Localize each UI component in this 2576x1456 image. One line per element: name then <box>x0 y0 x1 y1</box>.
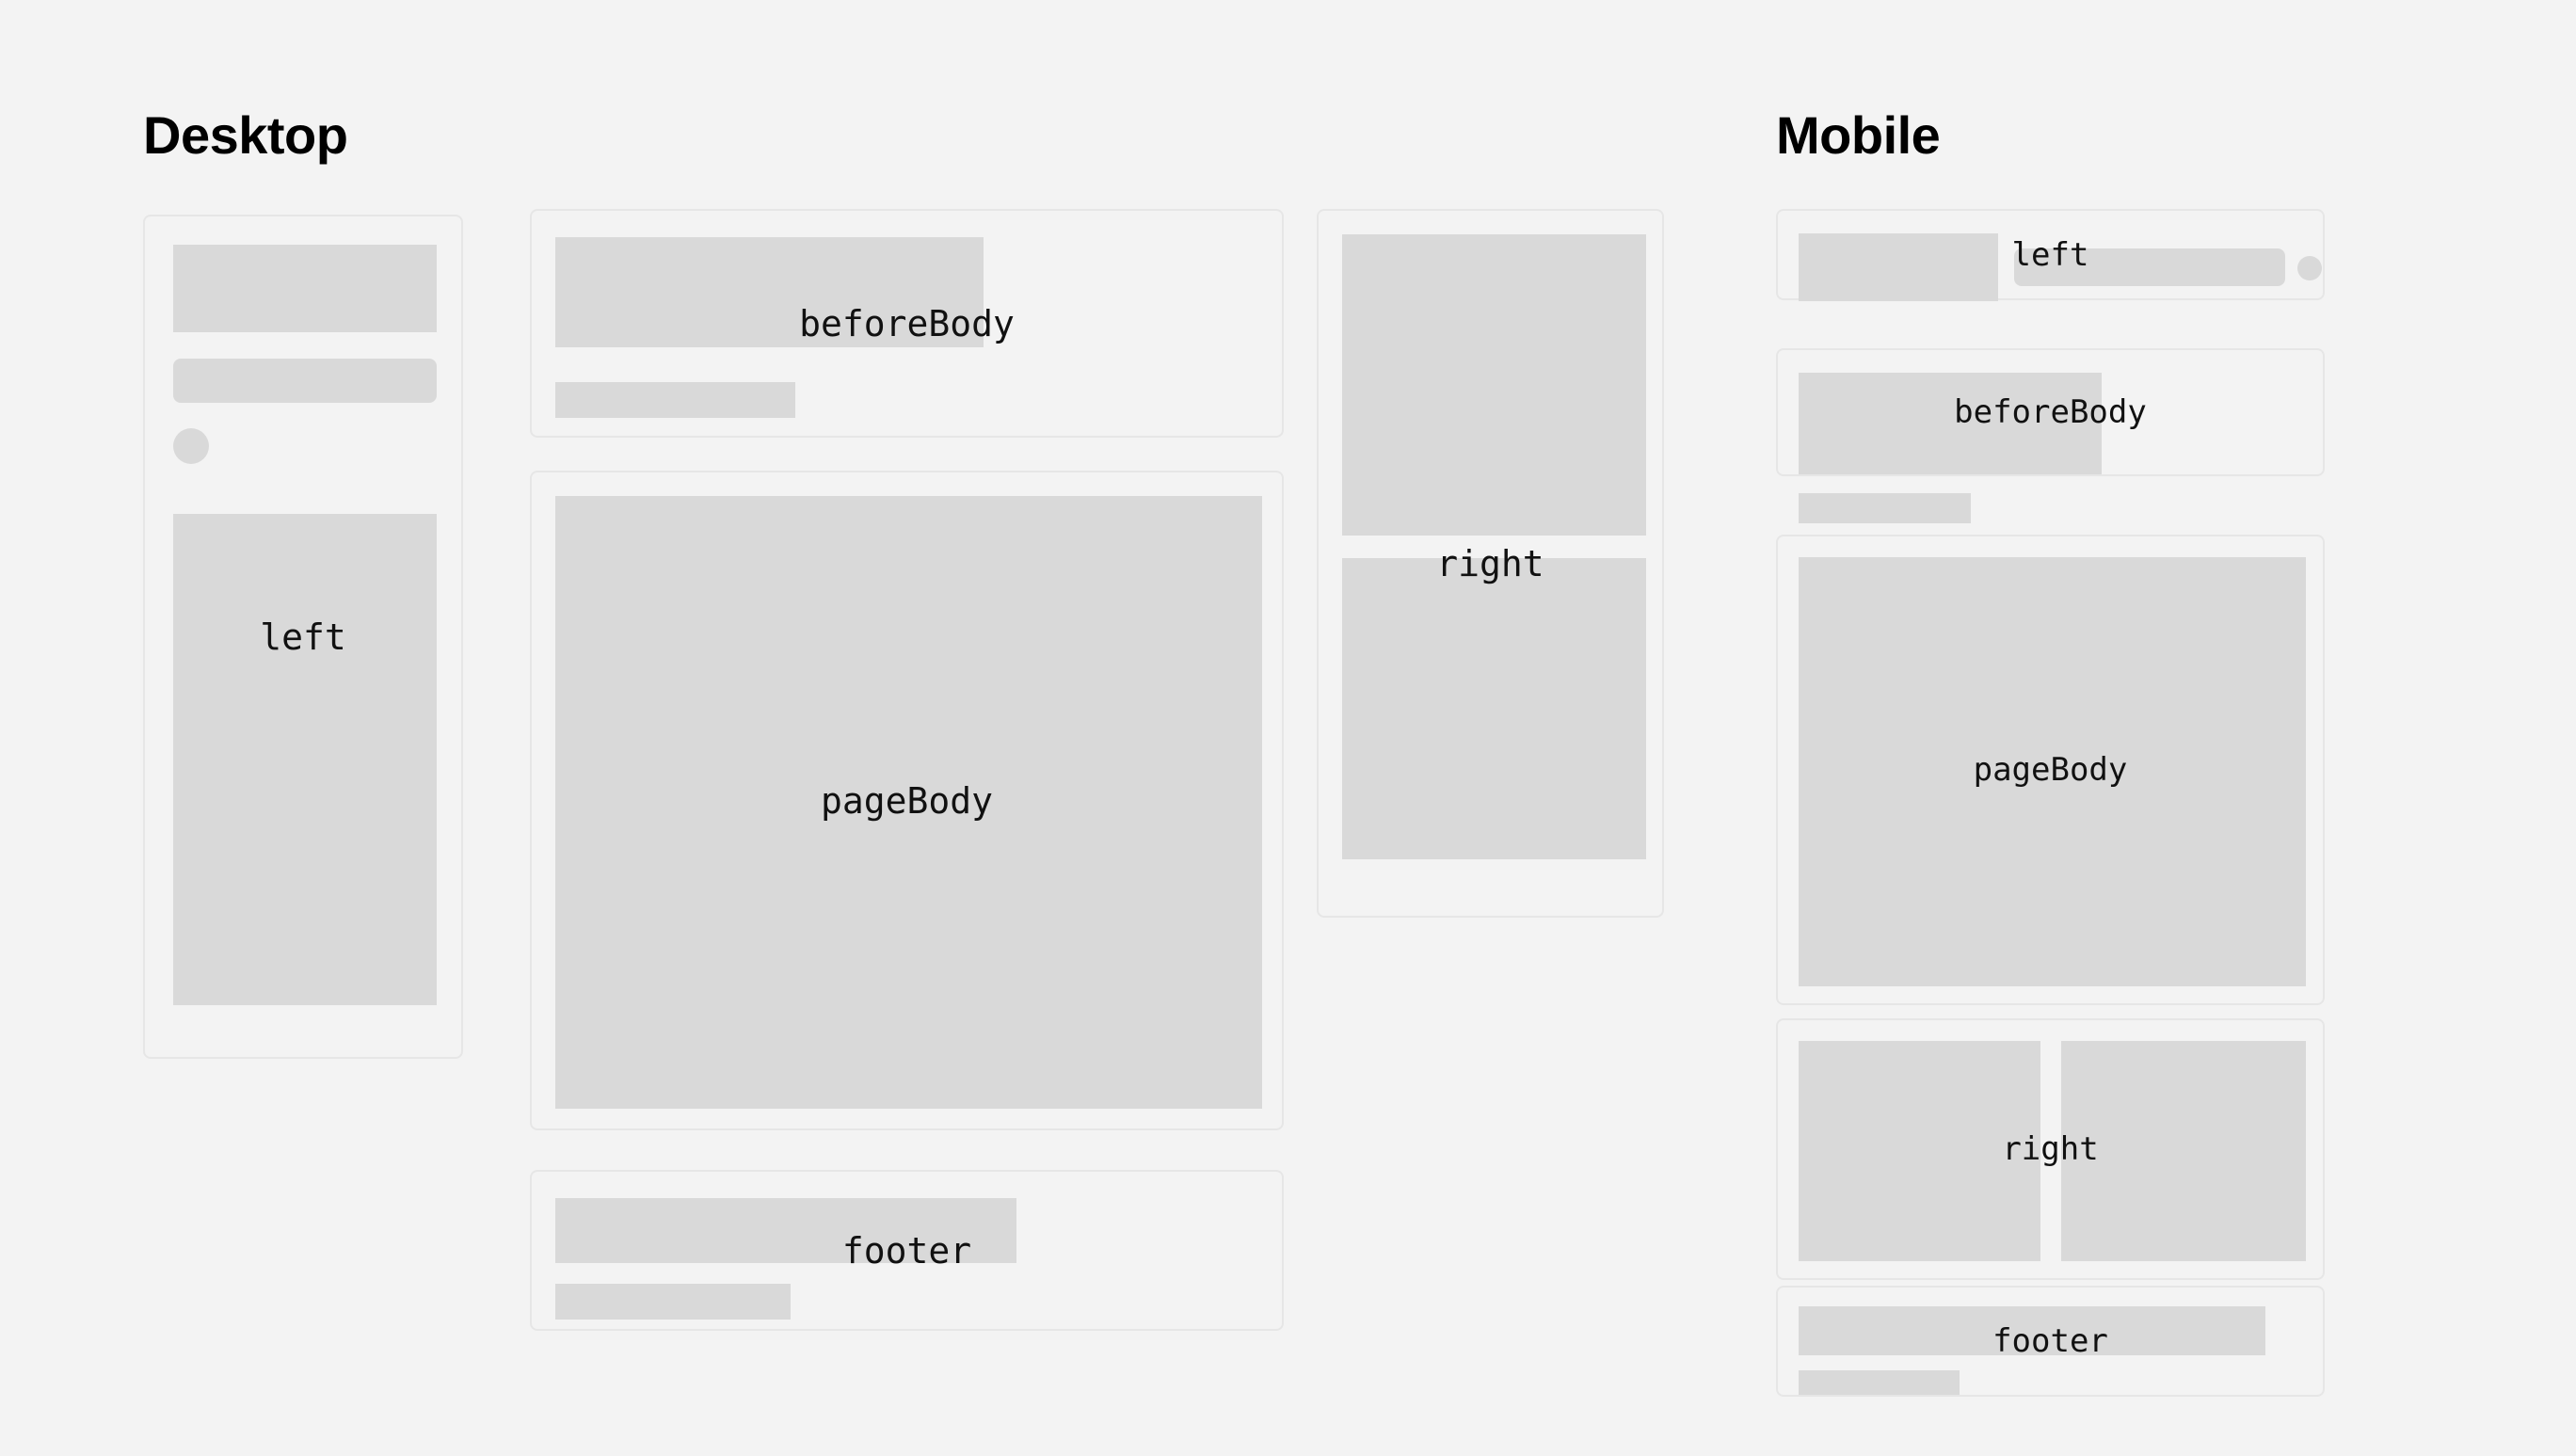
mobile-left-content: left <box>1778 211 2323 298</box>
desktop-slot-left[interactable]: left <box>143 215 463 1059</box>
skeleton-block-image <box>1799 373 2102 474</box>
skeleton-block-panel <box>173 514 437 1005</box>
skeleton-block-card-top <box>1342 234 1646 536</box>
desktop-left-content: left <box>145 216 461 1057</box>
skeleton-block-bar <box>2014 248 2285 286</box>
mobile-slot-right[interactable]: right <box>1776 1018 2325 1280</box>
desktop-slot-pagebody[interactable]: pageBody <box>530 471 1284 1130</box>
skeleton-block-avatar <box>173 428 209 464</box>
desktop-footer-content: footer <box>532 1172 1282 1329</box>
skeleton-block-bar-wide <box>1799 1306 2265 1355</box>
skeleton-block-card-right <box>2061 1041 2306 1261</box>
skeleton-block-bar-wide <box>555 1198 1016 1263</box>
desktop-pagebody-content: pageBody <box>532 472 1282 1128</box>
mobile-footer-content: footer <box>1778 1288 2323 1395</box>
mobile-slot-footer[interactable]: footer <box>1776 1286 2325 1397</box>
skeleton-block-image <box>555 237 984 347</box>
skeleton-block-main <box>1799 557 2306 986</box>
desktop-slot-beforebody[interactable]: beforeBody <box>530 209 1284 438</box>
mobile-slot-left[interactable]: left <box>1776 209 2325 300</box>
skeleton-block-card-left <box>1799 1041 2040 1261</box>
mobile-slot-pagebody[interactable]: pageBody <box>1776 535 2325 1005</box>
mobile-right-content: right <box>1778 1020 2323 1278</box>
layout-preview-page: { "page": { "background_color": "#f3f3f3… <box>0 0 2576 1456</box>
skeleton-block-bar-small <box>555 1284 791 1320</box>
skeleton-block-image <box>1799 233 1998 301</box>
desktop-section-title: Desktop <box>143 109 347 162</box>
skeleton-block-avatar <box>2297 256 2322 280</box>
skeleton-block-image <box>173 245 437 332</box>
desktop-beforebody-content: beforeBody <box>532 211 1282 436</box>
mobile-slot-beforebody[interactable]: beforeBody <box>1776 348 2325 476</box>
skeleton-block-bar <box>1799 493 1971 523</box>
skeleton-block-bar <box>173 359 437 403</box>
desktop-slot-right[interactable]: right <box>1317 209 1664 918</box>
skeleton-block-bar <box>555 382 795 418</box>
skeleton-block-bar-small <box>1799 1370 1960 1395</box>
skeleton-block-main <box>555 496 1262 1109</box>
skeleton-block-card-bottom <box>1342 558 1646 859</box>
mobile-beforebody-content: beforeBody <box>1778 350 2323 474</box>
mobile-section-title: Mobile <box>1776 109 1940 162</box>
mobile-pagebody-content: pageBody <box>1778 536 2323 1003</box>
desktop-slot-footer[interactable]: footer <box>530 1170 1284 1331</box>
desktop-right-content: right <box>1319 211 1662 916</box>
